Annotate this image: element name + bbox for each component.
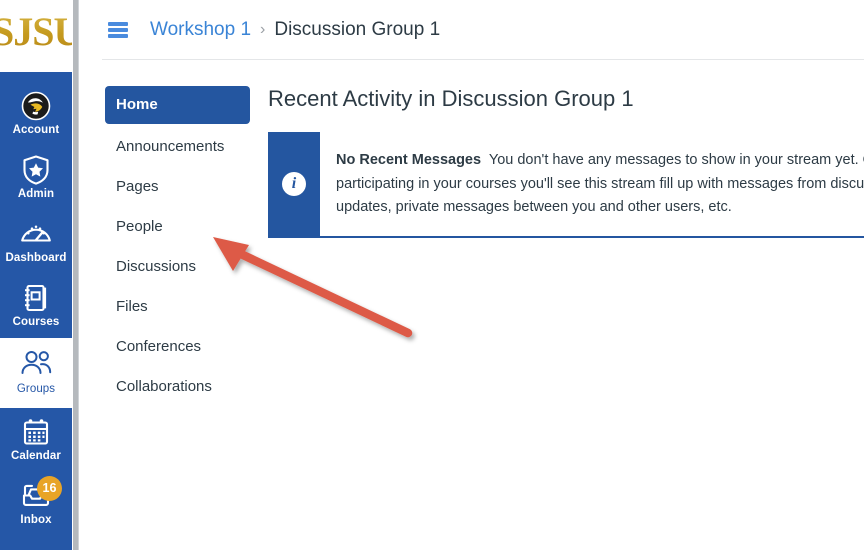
sidebar-label-courses: Courses (0, 316, 72, 329)
alert-title: No Recent Messages (336, 152, 481, 168)
sjsu-logo-text: SJSU (0, 8, 72, 55)
sidebar-item-account[interactable]: Account (0, 82, 72, 146)
course-nav-item-pages[interactable]: Pages (105, 170, 250, 204)
global-navigation-sidebar: SJSU Account (0, 0, 72, 550)
alert-body: No Recent Messages You don't have any me… (320, 132, 864, 236)
breadcrumb-link-course[interactable]: Workshop 1 (150, 19, 251, 41)
inbox-unread-badge: 16 (37, 476, 62, 501)
sidebar-item-courses[interactable]: Courses (0, 274, 72, 338)
sidebar-label-dashboard: Dashboard (0, 252, 72, 265)
hamburger-menu-icon[interactable] (108, 22, 128, 38)
course-nav-item-files[interactable]: Files (105, 290, 250, 324)
content-columns: Home Announcements Pages People Discussi… (80, 60, 864, 410)
sidebar-label-groups: Groups (0, 383, 72, 396)
spartan-avatar-icon (0, 91, 72, 121)
recent-activity-panel: Recent Activity in Discussion Group 1 i … (250, 86, 864, 238)
notebook-icon (0, 283, 72, 313)
people-group-icon (0, 350, 72, 380)
main-content-area: Workshop 1 › Discussion Group 1 Home Ann… (80, 0, 864, 550)
nav-scrollbar-divider[interactable] (72, 0, 79, 550)
inbox-tray-icon: 16 (0, 481, 72, 511)
course-nav-item-announcements[interactable]: Announcements (105, 130, 250, 164)
speedometer-icon (0, 219, 72, 249)
info-icon: i (282, 172, 306, 196)
sidebar-label-inbox: Inbox (0, 514, 72, 527)
sidebar-label-calendar: Calendar (0, 450, 72, 463)
sidebar-label-admin: Admin (0, 188, 72, 201)
course-nav-item-discussions[interactable]: Discussions (105, 250, 250, 284)
sidebar-item-groups[interactable]: Groups (0, 338, 72, 408)
sidebar-item-inbox[interactable]: 16 Inbox (0, 472, 72, 536)
course-nav-item-home[interactable]: Home (105, 86, 250, 124)
course-navigation-menu: Home Announcements Pages People Discussi… (80, 86, 250, 410)
course-nav-item-people[interactable]: People (105, 210, 250, 244)
sidebar-label-account: Account (0, 124, 72, 137)
no-recent-messages-alert: i No Recent Messages You don't have any … (268, 132, 864, 238)
breadcrumb-separator-icon: › (251, 21, 274, 39)
course-nav-item-conferences[interactable]: Conferences (105, 330, 250, 364)
global-nav-item-list: Account Admin (0, 72, 72, 550)
sidebar-item-admin[interactable]: Admin (0, 146, 72, 210)
sidebar-item-calendar[interactable]: Calendar (0, 408, 72, 472)
course-nav-item-collaborations[interactable]: Collaborations (105, 370, 250, 404)
sidebar-item-dashboard[interactable]: Dashboard (0, 210, 72, 274)
alert-icon-strip: i (268, 132, 320, 236)
shield-star-icon (0, 155, 72, 185)
canvas-app-window: SJSU Account (0, 0, 864, 550)
breadcrumb: Workshop 1 › Discussion Group 1 (80, 0, 864, 60)
breadcrumb-current-page: Discussion Group 1 (274, 19, 440, 41)
institution-logo[interactable]: SJSU (0, 0, 72, 72)
page-title: Recent Activity in Discussion Group 1 (268, 86, 864, 112)
calendar-icon (0, 417, 72, 447)
